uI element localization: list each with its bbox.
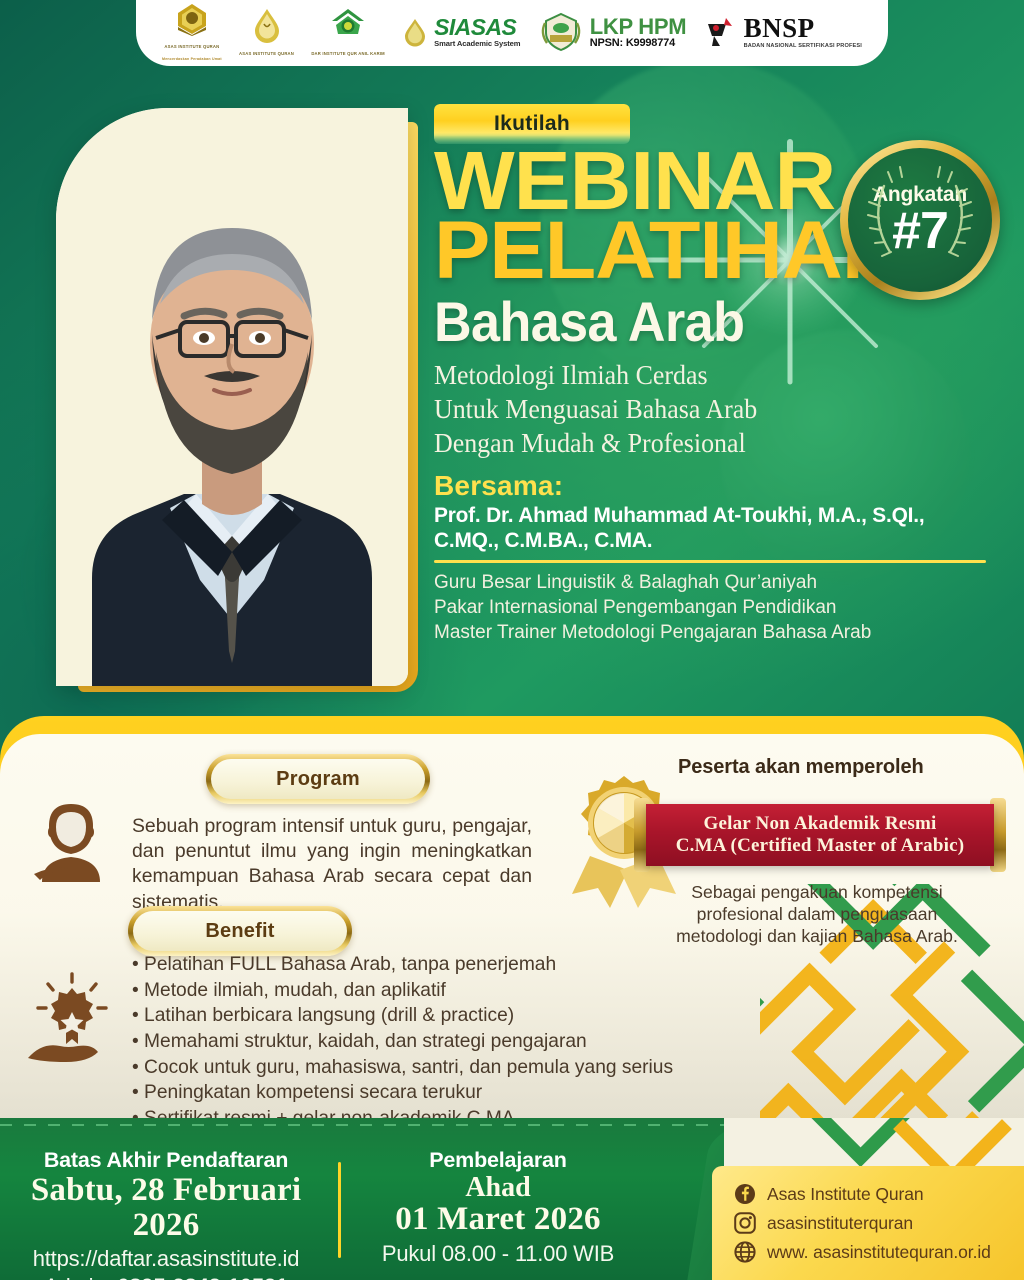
- hand-star-award-icon: [26, 972, 118, 1064]
- footer-schedule-column: Pembelajaran Ahad 01 Maret 2026 Pukul 08…: [348, 1148, 648, 1267]
- award-heading: Peserta akan memperoleh: [678, 756, 1010, 779]
- learning-date: 01 Maret 2026: [348, 1202, 648, 1237]
- deadline-label: Batas Akhir Pendaftaran: [0, 1148, 332, 1173]
- tagline-line-2: Untuk Menguasai Bahasa Arab: [434, 392, 972, 426]
- admin-label: Admin:: [44, 1274, 111, 1280]
- dar-quran-mark-icon: [328, 7, 368, 43]
- laurel-wreath-icon: [850, 150, 990, 290]
- logo-lkp-hpm: LKP HPM NPSN: K9998774: [538, 11, 687, 53]
- program-chip-label: Program: [276, 768, 360, 791]
- tagline-line-3: Dengan Mudah & Profesional: [434, 426, 972, 460]
- content-panel: Program Sebuah program intensif untuk gu…: [0, 734, 1024, 1120]
- lkp-hpm-npsn: NPSN: K9998774: [590, 38, 687, 50]
- logo-caption: DAR INSTITUTE QUR ANIL KARIM: [311, 51, 385, 56]
- contact-facebook[interactable]: Asas Institute Quran: [734, 1183, 1014, 1205]
- award-note-line-2: profesional dalam penguasaan: [652, 904, 982, 926]
- benefit-item: • Pelatihan FULL Bahasa Arab, tanpa pene…: [132, 952, 673, 978]
- award-note-line-1: Sebagai pengakuan kompetensi: [652, 882, 982, 904]
- benefit-item: • Metode ilmiah, mudah, dan aplikatif: [132, 978, 673, 1004]
- award-note-line-3: metodologi dan kajian Bahasa Arab.: [652, 926, 982, 948]
- logo-subcaption: Mencerdaskan Peradaban Umat: [162, 57, 222, 61]
- bersama-label: Bersama:: [434, 470, 994, 502]
- chip-face: Benefit: [133, 911, 347, 951]
- partner-logo-bar: ASAS INSTITUTE QURAN Mencerdaskan Perada…: [136, 0, 888, 66]
- siasas-subtitle: Smart Academic System: [434, 40, 520, 48]
- speaker-name: Prof. Dr. Ahmad Muhammad At-Toukhi, M.A.…: [434, 503, 977, 553]
- logo-bnsp: BNSP BADAN NASIONAL SERTIFIKASI PROFESI: [704, 15, 862, 50]
- admin-contact: Admin: 0895-3842-10521: [0, 1274, 332, 1280]
- logo-dar-ahlul-quran: DAR INSTITUTE QUR ANIL KARIM: [311, 7, 385, 56]
- logo-caption: ASAS INSTITUTE QURAN: [239, 51, 294, 56]
- logo-siasas: SIASAS Smart Academic System: [402, 16, 520, 48]
- award-note: Sebagai pengakuan kompetensi profesional…: [652, 882, 982, 948]
- benefit-item: • Cocok untuk guru, mahasiswa, santri, d…: [132, 1055, 673, 1081]
- divider-rule: [434, 560, 986, 563]
- ribbon-line-1: Gelar Non Akademik Resmi: [704, 813, 937, 835]
- facebook-icon: [734, 1183, 756, 1205]
- learning-day: Ahad: [348, 1173, 648, 1202]
- benefit-list: • Pelatihan FULL Bahasa Arab, tanpa pene…: [132, 952, 673, 1120]
- contact-card: Asas Institute Quran asasinstituterquran: [712, 1166, 1024, 1280]
- bnsp-subtitle: BADAN NASIONAL SERTIFIKASI PROFESI: [744, 44, 862, 50]
- benefit-item: • Memahami struktur, kaidah, dan strateg…: [132, 1029, 673, 1055]
- asas-institute-quran-mark-icon: [172, 2, 212, 36]
- chip-face: Program: [211, 759, 425, 799]
- droplet-quran-mark-icon: [251, 7, 283, 43]
- contact-website[interactable]: www. asasinstitutequran.or.id: [734, 1241, 1014, 1263]
- footer-column-divider: [338, 1162, 341, 1258]
- benefit-chip: Benefit: [128, 906, 352, 956]
- logo-asas-institute-quran: ASAS INSTITUTE QURAN Mencerdaskan Perada…: [162, 2, 222, 62]
- award-ribbon: Gelar Non Akademik Resmi C.MA (Certified…: [634, 796, 1006, 874]
- facebook-handle: Asas Institute Quran: [767, 1184, 924, 1205]
- ribbon-line-2: C.MA (Certified Master of Arabic): [676, 835, 965, 857]
- website-url: www. asasinstitutequran.or.id: [767, 1242, 991, 1263]
- contact-instagram[interactable]: asasinstituterquran: [734, 1212, 1014, 1234]
- speaker-credential-3: Master Trainer Metodologi Pengajaran Bah…: [434, 621, 994, 646]
- speaker-portrait: [56, 108, 408, 686]
- globe-icon: [734, 1241, 756, 1263]
- program-description: Sebuah program intensif untuk guru, peng…: [132, 814, 532, 915]
- register-url[interactable]: https://daftar.asasinstitute.id: [0, 1246, 332, 1272]
- subject-title: Bahasa Arab: [434, 293, 955, 350]
- award-block: Peserta akan memperoleh: [560, 756, 1010, 779]
- speaker-credential-2: Pakar Internasional Pengembangan Pendidi…: [434, 596, 994, 621]
- benefit-chip-label: Benefit: [205, 920, 274, 943]
- siasas-mark-icon: [402, 17, 428, 47]
- logo-caption: ASAS INSTITUTE QURAN: [164, 44, 219, 49]
- bnsp-mark-icon: [704, 16, 738, 48]
- benefit-item: • Latihan berbicara langsung (drill & pr…: [132, 1003, 673, 1029]
- benefit-item: • Peningkatan kompetensi secara terukur: [132, 1080, 673, 1106]
- ribbon-body: Gelar Non Akademik Resmi C.MA (Certified…: [646, 804, 994, 866]
- admin-phone[interactable]: 0895-3842-10521: [117, 1274, 288, 1280]
- angkatan-badge: Angkatan #7: [840, 140, 1000, 300]
- program-chip: Program: [206, 754, 430, 804]
- bnsp-title: BNSP: [744, 15, 862, 42]
- instagram-icon: [734, 1212, 756, 1234]
- learning-label: Pembelajaran: [348, 1148, 648, 1173]
- lkp-hpm-title: LKP HPM: [590, 15, 687, 38]
- deadline-date: Sabtu, 28 Februari 2026: [0, 1173, 332, 1242]
- poster-root: ASAS INSTITUTE QURAN Mencerdaskan Perada…: [0, 0, 1024, 1280]
- speaker-credential-1: Guru Besar Linguistik & Balaghah Qur’ani…: [434, 571, 994, 596]
- lkp-hpm-crest-icon: [538, 11, 584, 53]
- logo-asas-institute-quran-droplet: ASAS INSTITUTE QURAN: [239, 7, 294, 56]
- tagline-line-1: Metodologi Ilmiah Cerdas: [434, 358, 972, 392]
- speaker-photo-card: [56, 108, 408, 686]
- instagram-handle: asasinstituterquran: [767, 1213, 913, 1234]
- footer-deadline-column: Batas Akhir Pendaftaran Sabtu, 28 Februa…: [0, 1148, 332, 1280]
- student-person-icon: [28, 796, 114, 882]
- siasas-title: SIASAS: [434, 16, 520, 39]
- learning-time: Pukul 08.00 - 11.00 WIB: [348, 1241, 648, 1267]
